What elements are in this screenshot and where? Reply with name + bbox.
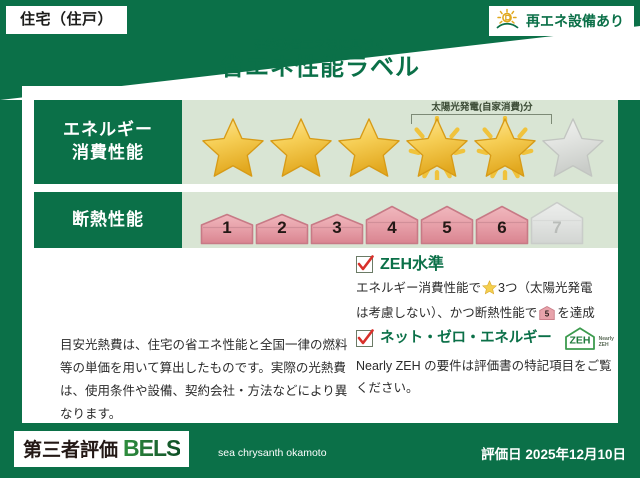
zeh-mark-sub: Nearly ZEH [599, 337, 614, 351]
utility-cost-note: 目安光熱費は、住宅の省エネ性能と全国一律の燃料等の単価を用いて算出したものです。… [60, 334, 352, 427]
star-filled [200, 116, 266, 180]
house-grade-empty: 7 [530, 201, 584, 245]
net-zero-energy-checkbox[interactable] [356, 330, 373, 347]
energy-performance-label: エネルギー 消費性能 [34, 100, 182, 184]
bels-jp-label: 第三者評価 [23, 435, 118, 462]
net-zero-energy-title: ネット・ゼロ・エネルギー [380, 331, 552, 346]
house-grade-filled: 1 [200, 213, 254, 245]
insulation-label-line1: 断熱性能 [72, 209, 144, 232]
house-grade-filled: 5 [420, 205, 474, 245]
title-main: 省エネ性能ラベル [0, 52, 640, 83]
house-grade-filled: 3 [310, 213, 364, 245]
title-subtitle: 建築物省エネ法に基づく [0, 38, 640, 52]
inline-star-icon [482, 284, 497, 298]
star-filled [268, 116, 334, 180]
zeh-desc-part2: は考慮しない）、かつ断熱性能で [356, 306, 537, 320]
insulation-performance-label: 断熱性能 [34, 192, 182, 248]
zeh-standard-description: エネルギー消費性能で3つ（太陽光発電は考慮しない）、かつ断熱性能で5を達成 [356, 278, 618, 329]
building-type-tag: 住宅（住戸） [6, 6, 127, 34]
house-grade-filled: 6 [475, 205, 529, 245]
star-rating [200, 116, 606, 180]
claim-nze-header: ネット・ゼロ・エネルギー ZEH Nearly ZEH [356, 326, 618, 351]
zeh-standard-title: ZEH水準 [380, 257, 444, 273]
renewable-badge-label: 再エネ設備あり [526, 14, 624, 28]
house-grade-number: 4 [387, 218, 396, 245]
house-grade-number: 2 [277, 218, 286, 245]
net-zero-energy-description: Nearly ZEH の要件は評価書の特記項目をご覧ください。 [356, 356, 618, 400]
claim-zeh-standard: ZEH水準 エネルギー消費性能で3つ（太陽光発電は考慮しない）、かつ断熱性能で5… [356, 256, 618, 329]
zeh-desc-star-count: 3つ（太陽光発電 [498, 281, 592, 295]
evaluation-date: 評価日 2025年12月10日 [481, 443, 626, 463]
zeh-desc-part3: を達成 [557, 306, 595, 320]
bels-en-label: BELS [123, 435, 180, 462]
star-filled [336, 116, 402, 180]
house-grade-filled: 2 [255, 213, 309, 245]
claim-net-zero-energy: ネット・ゼロ・エネルギー ZEH Nearly ZEH Nearly ZEH の… [356, 326, 618, 400]
star-empty [540, 116, 606, 180]
energy-label-card: 住宅（住戸） 再エネ設備あり 建築物省エネ法に基づく [0, 0, 640, 478]
inner-card: エネルギー 消費性能 太陽光発電(自家消費)分 [22, 86, 618, 423]
evaluator-names: sea chrysanth okamoto [218, 447, 327, 459]
house-grade-number: 5 [442, 218, 451, 245]
house-grade-number: 1 [222, 218, 231, 245]
zeh-standard-checkbox[interactable] [356, 256, 373, 273]
svg-text:5: 5 [545, 310, 550, 319]
energy-label-line1: エネルギー [63, 119, 153, 142]
bels-badge: 第三者評価 BELS [14, 431, 189, 467]
title-block: 建築物省エネ法に基づく 省エネ性能ラベル [0, 38, 640, 84]
solar-bracket-label: 太陽光発電(自家消費)分 [390, 99, 574, 113]
renewable-equipment-badge: 再エネ設備あり [489, 6, 634, 36]
insulation-rating-body: 1 2 [182, 192, 618, 248]
inline-house-icon: 5 [539, 310, 555, 324]
house-grade-filled: 4 [365, 205, 419, 245]
energy-label-line2: 消費性能 [72, 142, 144, 165]
footer: 第三者評価 BELS sea chrysanth okamoto 評価日 202… [0, 423, 640, 478]
insulation-performance-row: 断熱性能 1 [22, 192, 618, 248]
zeh-logo-mark: ZEH Nearly ZEH [563, 326, 614, 351]
claim-zeh-header: ZEH水準 [356, 256, 618, 273]
energy-performance-row: エネルギー 消費性能 太陽光発電(自家消費)分 [22, 100, 618, 184]
star-filled-solar [472, 116, 538, 180]
zeh-desc-part1: エネルギー消費性能で [356, 281, 481, 295]
solar-sun-icon [495, 8, 521, 35]
house-grade-scale: 1 2 [200, 201, 584, 245]
star-filled-solar [404, 116, 470, 180]
house-grade-number: 6 [497, 218, 506, 245]
house-grade-number: 3 [332, 218, 341, 245]
energy-rating-body: 太陽光発電(自家消費)分 [182, 100, 618, 184]
house-grade-number: 7 [552, 218, 561, 245]
svg-text:ZEH: ZEH [569, 335, 590, 347]
